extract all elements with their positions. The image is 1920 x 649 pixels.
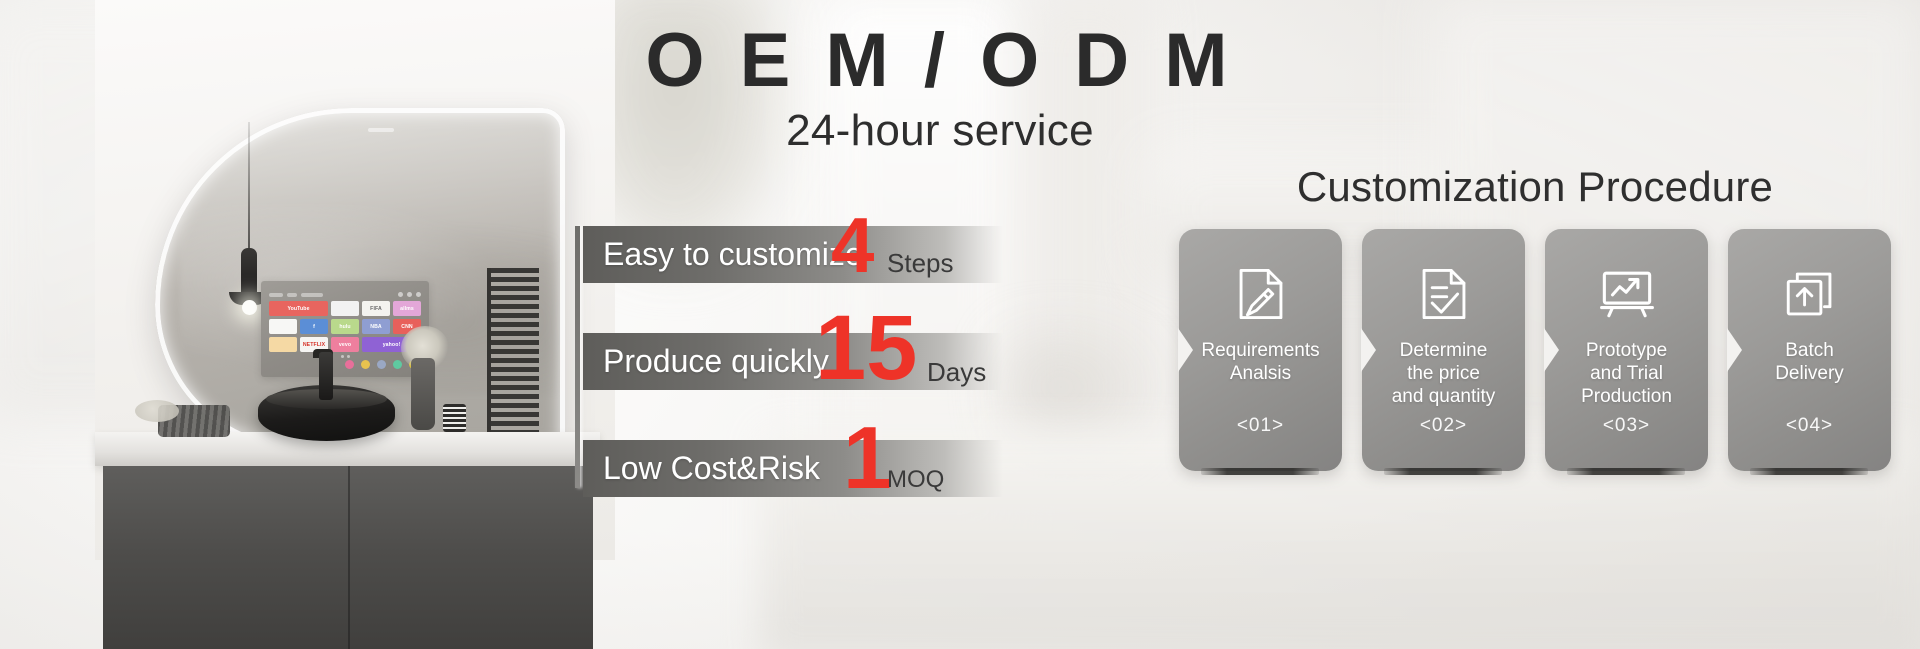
feature-number: 4 xyxy=(831,210,874,280)
decor-jar xyxy=(443,404,466,432)
feature-label: Produce quickly xyxy=(583,343,829,380)
procedure-card-index: <02> xyxy=(1362,415,1525,437)
screen-topbar-pill xyxy=(301,293,323,297)
screen-app-tile: YouTube xyxy=(269,301,328,316)
screen-page-dot xyxy=(347,355,350,358)
mirror-smart-screen: YouTubeFIFAallmsfhuluNBACNNNETFLIXvevoya… xyxy=(261,281,429,377)
feature-row: Easy to customize 4 Steps xyxy=(575,226,1045,283)
upload-boxes-icon xyxy=(1781,265,1839,323)
screen-app-tile: allms xyxy=(393,301,421,316)
procedure-card-label: BatchDelivery xyxy=(1767,339,1852,385)
screen-status-dot xyxy=(416,292,421,297)
towel-radiator xyxy=(487,268,539,440)
screen-app-tile xyxy=(269,337,297,352)
feature-list: Easy to customize 4 Steps Produce quickl… xyxy=(575,226,1045,497)
screen-app-grid: YouTubeFIFAallmsfhuluNBACNNNETFLIXvevoya… xyxy=(269,301,421,352)
feature-label: Easy to customize xyxy=(583,236,863,273)
feature-row: Produce quickly 15 Days xyxy=(575,333,1045,390)
pendant-lamp-body xyxy=(241,248,257,296)
chevron-notch-icon xyxy=(1178,328,1193,372)
screen-app-tile: FIFA xyxy=(362,301,390,316)
screen-topbar-pill xyxy=(269,293,283,297)
screen-topbar-pill xyxy=(287,293,297,297)
chevron-notch-icon xyxy=(1361,328,1376,372)
screen-status-dot xyxy=(407,292,412,297)
screen-app-tile: NBA xyxy=(362,319,390,334)
card-shadow-bar xyxy=(1201,468,1319,475)
mirror-sensor xyxy=(368,128,394,132)
procedure-card-label: Prototypeand TrialProduction xyxy=(1573,339,1680,409)
procedure-card-index: <03> xyxy=(1545,415,1708,437)
screen-app-tile xyxy=(269,319,297,334)
product-photo: YouTubeFIFAallmsfhuluNBACNNNETFLIXvevoya… xyxy=(95,0,615,649)
document-pencil-icon xyxy=(1232,265,1290,323)
procedure-card-03[interactable]: Prototypeand TrialProduction <03> xyxy=(1545,229,1708,471)
customization-procedure: Customization Procedure RequirementsAnal… xyxy=(1175,163,1895,471)
screen-topbar xyxy=(269,292,421,297)
screen-app-tile: hulu xyxy=(331,319,359,334)
screen-shortcut-icon xyxy=(361,360,370,369)
faucet xyxy=(319,352,333,400)
chart-presentation-icon xyxy=(1598,265,1656,323)
vanity-cabinet xyxy=(103,466,593,649)
screen-page-dots xyxy=(269,355,421,358)
screen-shortcut-icon xyxy=(393,360,402,369)
screen-app-tile xyxy=(331,301,359,316)
page-subtitle: 24-hour service xyxy=(620,106,1260,156)
procedure-card-01[interactable]: RequirementsAnalsis <01> xyxy=(1179,229,1342,471)
document-checklist-icon xyxy=(1415,265,1473,323)
feature-number: 15 xyxy=(815,307,917,390)
card-shadow-bar xyxy=(1750,468,1868,475)
headline-block: O E M / O D M 24-hour service xyxy=(620,20,1260,156)
feature-label: Low Cost&Risk xyxy=(583,450,820,487)
pendant-lamp-bulb xyxy=(242,300,257,315)
procedure-cards: RequirementsAnalsis <01> Determinethe pr… xyxy=(1175,229,1895,471)
screen-shortcut-icon xyxy=(345,360,354,369)
page-title: O E M / O D M xyxy=(620,20,1260,102)
feature-row: Low Cost&Risk 1 MOQ xyxy=(575,440,1045,497)
procedure-title: Customization Procedure xyxy=(1175,163,1895,211)
procedure-card-02[interactable]: Determinethe priceand quantity <02> xyxy=(1362,229,1525,471)
decor-vase xyxy=(411,358,435,430)
screen-page-dot xyxy=(341,355,344,358)
screen-app-tile: vevo xyxy=(331,337,359,352)
procedure-card-04[interactable]: BatchDelivery <04> xyxy=(1728,229,1891,471)
screen-topbar-status-icons xyxy=(398,292,421,297)
chevron-notch-icon xyxy=(1544,328,1559,372)
chevron-notch-icon xyxy=(1727,328,1742,372)
screen-status-dot xyxy=(398,292,403,297)
screen-bottom-icons xyxy=(269,360,421,369)
screen-shortcut-icon xyxy=(377,360,386,369)
procedure-card-index: <01> xyxy=(1179,415,1342,437)
card-shadow-bar xyxy=(1567,468,1685,475)
cabinet-divider xyxy=(348,466,350,649)
card-shadow-bar xyxy=(1384,468,1502,475)
decor-pebbles xyxy=(135,400,179,422)
oem-odm-banner: YouTubeFIFAallmsfhuluNBACNNNETFLIXvevoya… xyxy=(0,0,1920,649)
feature-number: 1 xyxy=(843,418,892,497)
feature-unit: Days xyxy=(927,357,986,388)
feature-unit: MOQ xyxy=(887,466,944,494)
pendant-lamp-cord xyxy=(248,122,250,250)
procedure-card-label: Determinethe priceand quantity xyxy=(1384,339,1504,409)
procedure-card-label: RequirementsAnalsis xyxy=(1193,339,1327,385)
feature-unit: Steps xyxy=(887,248,954,279)
procedure-card-index: <04> xyxy=(1728,415,1891,437)
screen-app-tile: f xyxy=(300,319,328,334)
